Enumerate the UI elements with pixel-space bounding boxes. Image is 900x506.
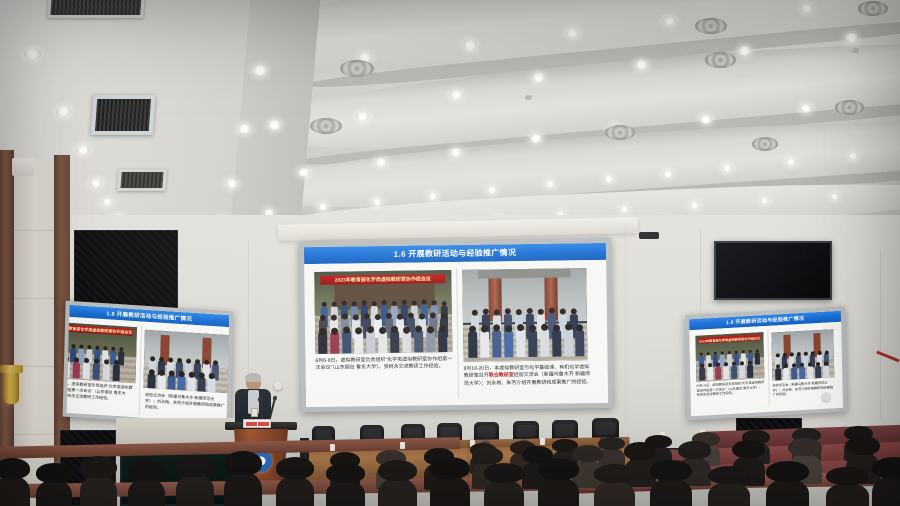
downlight [90, 179, 102, 188]
photo-right-roof [478, 268, 570, 278]
wall-seam [880, 250, 881, 420]
right-slide-body: 2023年教育部化学类虚拟教研室协作组会议 [689, 322, 843, 416]
downlight [620, 206, 629, 213]
downlight [24, 48, 41, 60]
ac-grille-mid-left [91, 95, 156, 135]
downlight [253, 65, 267, 76]
ceiling-vent [858, 1, 888, 16]
right-slide-divider [767, 330, 770, 406]
photo-left: 2023年教育部化学类虚拟教研室协作组会议 [314, 270, 452, 354]
downlight [268, 120, 281, 130]
downlight [830, 193, 839, 200]
downlight [375, 158, 387, 167]
downlight [700, 115, 712, 124]
downlight [800, 104, 812, 113]
ac-grille-top-left [47, 0, 145, 18]
downlight [318, 203, 328, 211]
ceiling-vent [705, 52, 736, 68]
audience-member [128, 478, 165, 506]
downlight [450, 148, 462, 157]
downlight [530, 134, 542, 143]
downlight [238, 124, 251, 134]
downlight [487, 186, 497, 194]
water-cup [330, 444, 335, 451]
water-cup [400, 442, 405, 449]
wall-seam [625, 225, 626, 425]
downlight [800, 3, 813, 13]
downlight [604, 175, 614, 183]
downlight [428, 192, 438, 200]
audience-member [36, 480, 72, 506]
audience-member [80, 475, 117, 506]
audience-member [326, 480, 365, 506]
photo-right-crowd [463, 309, 588, 362]
audience-member [0, 476, 30, 506]
right-screen-frame[interactable]: 1.6 开展教研活动与经验推广情况 2023年教育部化学类虚拟教研室协作组会议 [685, 307, 847, 421]
ceiling-vent [752, 137, 778, 151]
audience-member [276, 476, 314, 506]
column-cap-light [12, 158, 34, 176]
downlight [760, 197, 769, 204]
downlight [663, 170, 673, 178]
main-screen-frame[interactable]: 1.6 开展教研活动与经验推广情况 2023年教育部化学类虚拟教研室协作组会议 [299, 238, 613, 412]
right-photo-left: 2023年教育部化学类虚拟教研室协作组会议 [695, 332, 764, 382]
main-slide[interactable]: 1.6 开展教研活动与经验推广情况 2023年教育部化学类虚拟教研室协作组会议 [304, 243, 608, 407]
left-caption-left: 6月6-8日，虚拟教研室负责组织“化学类虚拟教研室协作组第一次会议”（山东烟台 … [67, 380, 136, 407]
audience-member [176, 474, 214, 506]
caption-left: 6月6-8日，虚拟教研室负责组织“化学类虚拟教研室协作组第一次会议”（山东烟台 … [315, 356, 453, 388]
ceiling-vent [695, 18, 727, 34]
right-slide[interactable]: 1.6 开展教研活动与经验推广情况 2023年教育部化学类虚拟教研室协作组会议 [689, 311, 843, 416]
panel-seam [12, 230, 56, 231]
left-photo-left: 2023年教育部化学类虚拟教研室协作组会议 [67, 322, 137, 384]
smoke-detector [525, 95, 532, 100]
downlight [463, 40, 477, 51]
audience-member [826, 483, 869, 506]
downlight [722, 164, 732, 172]
ceiling-vent [835, 100, 864, 115]
audience-member [538, 477, 579, 506]
ac-grille-lower-left [117, 169, 167, 191]
downlight [786, 158, 796, 166]
right-photo-right [771, 329, 834, 380]
water-cup [540, 438, 545, 445]
audience-member [430, 476, 470, 506]
left-slide-divider [139, 325, 142, 415]
downlight [690, 202, 699, 209]
panel-seam [12, 298, 56, 299]
downlight [738, 46, 751, 56]
downlight [356, 112, 369, 122]
downlight [298, 168, 310, 177]
security-camera [274, 381, 282, 390]
downlight [102, 198, 113, 206]
audience-area [0, 420, 900, 506]
downlight [226, 179, 238, 188]
slide-divider [456, 268, 459, 398]
downlight [663, 16, 676, 26]
left-screen-frame[interactable]: 1.6 开展教研活动与经验推广情况 2023年教育部化学类虚拟教研室协作组会议 [63, 301, 234, 428]
wall-sconce [4, 370, 19, 404]
audience-member [484, 480, 524, 506]
downlight [372, 198, 382, 206]
downlight [845, 33, 858, 43]
speaker-hair [245, 373, 261, 382]
projector [639, 232, 659, 239]
ceiling-vent [340, 60, 374, 77]
display-panel-right-off[interactable] [714, 241, 832, 300]
downlight [566, 28, 579, 38]
audience-member [224, 472, 262, 506]
audience-member [872, 476, 900, 506]
audience-member [378, 478, 417, 506]
audience-member [708, 482, 750, 506]
photo-left-banner: 2023年教育部化学类虚拟教研室协作组会议 [320, 274, 445, 285]
audience-member [650, 478, 692, 506]
downlight [76, 145, 90, 155]
audience-member [766, 479, 809, 506]
smoke-detector [852, 48, 859, 53]
photo-right [462, 268, 587, 362]
downlight [532, 73, 545, 83]
photo-left-crowd [315, 301, 453, 354]
speaker-badge [251, 408, 258, 417]
ceiling-vent [310, 118, 342, 134]
auditorium-scene: 1.6 开展教研活动与经验推广情况 2023年教育部化学类虚拟教研室协作组会议 [0, 0, 900, 506]
left-slide-body: 2023年教育部化学类虚拟教研室协作组会议 [67, 317, 229, 423]
security-camera-right [822, 392, 830, 401]
right-caption-left: 6月6-8日，虚拟教研室负责组织“化学类虚拟教研室协作组第一次会议”（山东烟台 … [696, 380, 764, 402]
downlight [545, 180, 555, 188]
downlight [848, 152, 858, 160]
left-photo-right [143, 330, 228, 393]
downlight [56, 106, 71, 117]
downlight [635, 60, 648, 70]
left-slide[interactable]: 1.6 开展教研活动与经验推广情况 2023年教育部化学类虚拟教研室协作组会议 [67, 305, 230, 423]
audience-member [594, 481, 635, 506]
ceiling-vent [605, 125, 635, 140]
slide-body: 2023年教育部化学类虚拟教研室协作组会议 [304, 260, 608, 407]
downlight [450, 90, 463, 100]
left-caption-right: 经验交流会（新疆乌鲁木齐 新疆师范大学）；刘永梅、朱芳介绍开展教研和成果推广的经… [145, 392, 226, 421]
caption-right: 8月18-20日，本虚拟教研室与化学基础课、有机化学虚拟教研室召开联合教研室经验… [464, 364, 592, 400]
caption-right-emphasis: 联合教研室 [489, 372, 514, 378]
